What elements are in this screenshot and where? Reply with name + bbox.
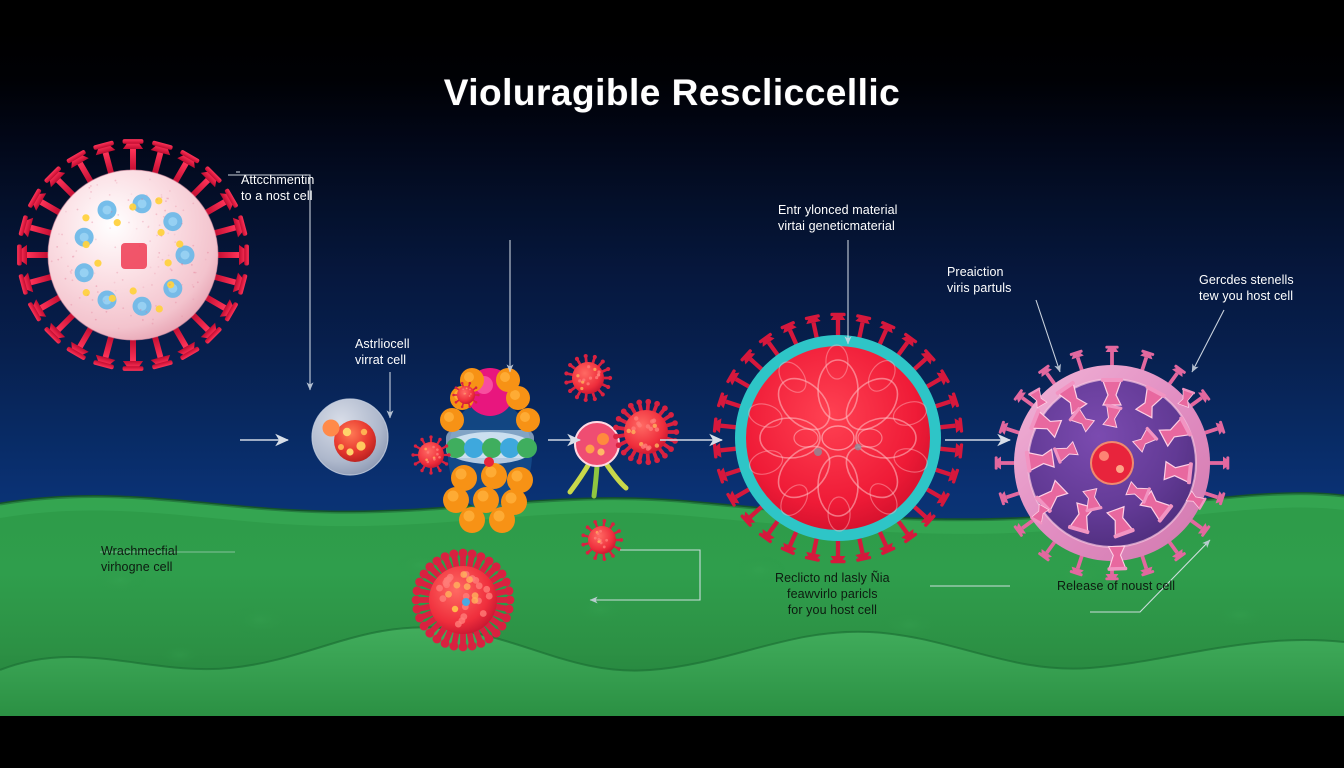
top-letterbox [0,0,1344,32]
illustration-canvas: Violuragible Rescliccellic Attcchmentint… [0,0,1344,768]
label-release: Release of noust cell [1057,578,1175,594]
label-line: for you host cell [775,602,890,618]
label-line: virhogne cell [101,559,178,575]
label-line: virtai geneticmaterial [778,218,898,234]
label-line: tew you host cell [1199,288,1294,304]
label-line: Astrliocell [355,336,410,352]
label-line: virrat cell [355,352,410,368]
label-generates: Gercdes stenellstew you host cell [1199,272,1294,304]
label-attachment: Attcchmentinto a nost cell [241,172,314,204]
label-host-cell: Astrliocellvirrat cell [355,336,410,368]
label-line: Entr ylonced material [778,202,898,218]
label-replication: Reclicto nd lasly Ñiafeawvirlo pariclsfo… [775,570,890,618]
label-line: Wrachmecfial [101,543,178,559]
label-line: viris partuls [947,280,1012,296]
bottom-letterbox [0,716,1344,768]
page-title: Violuragible Rescliccellic [0,72,1344,114]
label-production: Preaictionviris partuls [947,264,1012,296]
label-host-green: Wrachmecfialvirhogne cell [101,543,178,575]
label-line: to a nost cell [241,188,314,204]
label-entry: Entr ylonced materialvirtai geneticmater… [778,202,898,234]
label-line: Release of noust cell [1057,578,1175,594]
label-line: feawvirlo paricls [775,586,890,602]
label-line: Gercdes stenells [1199,272,1294,288]
host-tissue-band [0,470,1344,720]
label-line: Attcchmentin [241,172,314,188]
label-line: Preaiction [947,264,1012,280]
label-line: Reclicto nd lasly Ñia [775,570,890,586]
